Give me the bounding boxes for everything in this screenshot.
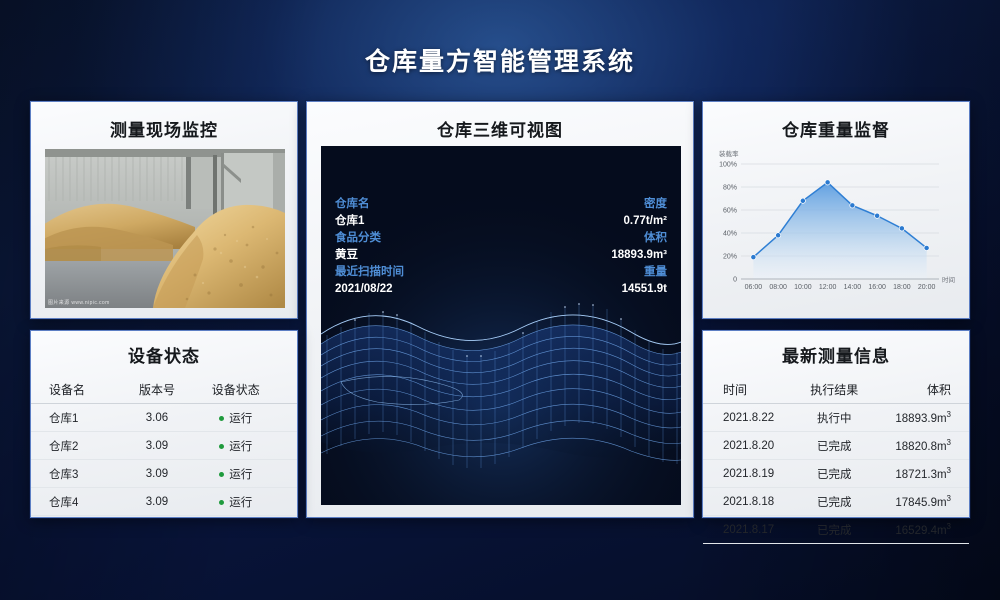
label-warehouse-name: 仓库名	[335, 196, 370, 213]
y-tick-label: 80%	[723, 185, 737, 192]
data-point[interactable]	[850, 203, 855, 208]
x-tick-labels: 06:0008:0010:0012:0014:0016:0018:0020:00	[745, 284, 936, 291]
device-status: 运行	[188, 488, 297, 516]
device-version: 3.09	[125, 432, 188, 460]
measure-time: 2021.8.19	[703, 460, 801, 488]
table-row[interactable]: 2021.8.19已完成18721.3m3	[703, 460, 969, 488]
measure-result: 执行中	[801, 404, 867, 432]
y-tick-label: 20%	[723, 254, 737, 261]
data-point[interactable]	[924, 245, 929, 250]
device-col-version: 版本号	[125, 375, 188, 404]
device-status: 运行	[188, 404, 297, 432]
panel-title-device-status: 设备状态	[31, 342, 297, 367]
panel-title-3d-visual: 仓库三维可视图	[307, 116, 693, 141]
status-label: 运行	[229, 413, 252, 425]
info-row-value-1: 仓库1 0.77t/m²	[335, 213, 667, 230]
device-status-table: 设备名 版本号 设备状态 仓库13.06运行仓库23.09运行仓库33.09运行…	[31, 375, 297, 516]
measure-result: 已完成	[801, 460, 867, 488]
table-row[interactable]: 仓库43.09运行	[31, 488, 297, 516]
label-weight: 重量	[644, 264, 667, 281]
x-tick-label: 08:00	[769, 284, 787, 291]
device-version: 3.09	[125, 488, 188, 516]
info-row-label-1: 仓库名 密度	[335, 196, 667, 213]
unit-exponent: 3	[947, 494, 951, 503]
label-volume: 体积	[644, 230, 667, 247]
panel-latest-measurement: 最新测量信息 时间 执行结果 体积 2021.8.22执行中18893.9m32…	[702, 330, 970, 518]
unit-exponent: 3	[947, 410, 951, 419]
status-dot-icon	[219, 444, 224, 449]
status-dot-icon	[219, 472, 224, 477]
panel-weight-chart: 仓库重量监督 装载率 020%40%60%80%100% 06:0008:001	[702, 101, 970, 319]
measure-col-volume: 体积	[867, 375, 969, 404]
x-tick-label: 12:00	[819, 284, 837, 291]
measure-time: 2021.8.18	[703, 488, 801, 516]
measure-result: 已完成	[801, 516, 867, 544]
measure-table-header-row: 时间 执行结果 体积	[703, 375, 969, 404]
device-col-name: 设备名	[31, 375, 125, 404]
table-row[interactable]: 仓库23.09运行	[31, 432, 297, 460]
data-point[interactable]	[776, 233, 781, 238]
table-row[interactable]: 2021.8.22执行中18893.9m3	[703, 404, 969, 432]
measure-result: 已完成	[801, 488, 867, 516]
value-density: 0.77t/m²	[624, 213, 667, 230]
warehouse-grain-photo	[45, 149, 285, 308]
camera-feed[interactable]: 图片来源 www.nipic.com	[45, 149, 285, 308]
panel-title-weight-chart: 仓库重量监督	[703, 116, 969, 141]
device-name: 仓库1	[31, 404, 125, 432]
x-tick-label: 20:00	[918, 284, 936, 291]
panel-title-site-monitoring: 测量现场监控	[31, 116, 297, 141]
measure-time: 2021.8.22	[703, 404, 801, 432]
warehouse-info-overlay: 仓库名 密度 仓库1 0.77t/m² 食品分类 体积 黄豆 18893.9m³…	[335, 196, 667, 298]
device-version: 3.09	[125, 460, 188, 488]
status-label: 运行	[229, 441, 252, 453]
measurement-table-body: 2021.8.22执行中18893.9m32021.8.20已完成18820.8…	[703, 404, 969, 544]
status-dot-icon	[219, 500, 224, 505]
measure-volume: 17845.9m3	[867, 488, 969, 516]
unit-exponent: 3	[947, 522, 951, 531]
data-point[interactable]	[825, 180, 830, 185]
page-title: 仓库量方智能管理系统	[0, 42, 1000, 78]
unit-exponent: 3	[947, 438, 951, 447]
y-tick-label: 40%	[723, 231, 737, 238]
data-point[interactable]	[899, 226, 904, 231]
x-tick-label: 06:00	[745, 284, 763, 291]
info-row-value-2: 黄豆 18893.9m³	[335, 247, 667, 264]
table-row[interactable]: 仓库33.09运行	[31, 460, 297, 488]
info-row-value-3: 2021/08/22 14551.9t	[335, 281, 667, 298]
value-weight: 14551.9t	[622, 281, 667, 298]
y-axis-title: 装载率	[719, 149, 739, 158]
device-table-body: 仓库13.06运行仓库23.09运行仓库33.09运行仓库43.09运行	[31, 404, 297, 516]
measure-volume: 18820.8m3	[867, 432, 969, 460]
device-name: 仓库3	[31, 460, 125, 488]
measure-time: 2021.8.20	[703, 432, 801, 460]
panel-site-monitoring: 测量现场监控	[30, 101, 298, 319]
data-point[interactable]	[800, 198, 805, 203]
label-density: 密度	[644, 196, 667, 213]
x-tick-label: 16:00	[868, 284, 886, 291]
measurement-table: 时间 执行结果 体积 2021.8.22执行中18893.9m32021.8.2…	[703, 375, 969, 544]
label-food-category: 食品分类	[335, 230, 381, 247]
measure-col-result: 执行结果	[801, 375, 867, 404]
unit-exponent: 3	[947, 466, 951, 475]
panel-3d-visual: 仓库三维可视图	[306, 101, 694, 518]
device-version: 3.06	[125, 404, 188, 432]
device-status: 运行	[188, 460, 297, 488]
x-tick-label: 10:00	[794, 284, 812, 291]
table-row[interactable]: 2021.8.17已完成16529.4m3	[703, 516, 969, 544]
load-rate-chart[interactable]: 装载率 020%40%60%80%100% 06:0008:0010:0012:…	[711, 142, 963, 312]
x-tick-label: 14:00	[844, 284, 862, 291]
info-row-label-2: 食品分类 体积	[335, 230, 667, 247]
device-table-header-row: 设备名 版本号 设备状态	[31, 375, 297, 404]
y-tick-label: 0	[733, 277, 737, 284]
3d-mesh-viewport[interactable]: 仓库名 密度 仓库1 0.77t/m² 食品分类 体积 黄豆 18893.9m³…	[321, 146, 681, 505]
table-row[interactable]: 仓库13.06运行	[31, 404, 297, 432]
measure-volume: 16529.4m3	[867, 516, 969, 544]
label-last-scan-time: 最近扫描时间	[335, 264, 404, 281]
device-status: 运行	[188, 432, 297, 460]
y-tick-labels: 020%40%60%80%100%	[719, 162, 737, 284]
load-rate-area-chart: 装载率 020%40%60%80%100% 06:0008:0010:0012:…	[711, 142, 963, 312]
measure-volume: 18893.9m3	[867, 404, 969, 432]
x-axis-title: 时间	[942, 275, 955, 284]
x-tick-label: 18:00	[893, 284, 911, 291]
panel-title-latest-measurement: 最新测量信息	[703, 342, 969, 367]
value-warehouse-name: 仓库1	[335, 213, 364, 230]
photo-watermark: 图片来源 www.nipic.com	[48, 299, 110, 306]
value-last-scan-time: 2021/08/22	[335, 281, 393, 298]
status-label: 运行	[229, 469, 252, 481]
device-col-status: 设备状态	[188, 375, 297, 404]
data-point[interactable]	[875, 213, 880, 218]
panel-device-status: 设备状态 设备名 版本号 设备状态 仓库13.06运行仓库23.09运行仓库33…	[30, 330, 298, 518]
value-food-category: 黄豆	[335, 247, 358, 264]
y-tick-label: 60%	[723, 208, 737, 215]
status-label: 运行	[229, 497, 252, 509]
dashboard-root: 仓库量方智能管理系统 测量现场监控	[0, 0, 1000, 600]
device-name: 仓库2	[31, 432, 125, 460]
value-volume: 18893.9m³	[611, 247, 667, 264]
y-tick-label: 100%	[719, 162, 737, 169]
measure-result: 已完成	[801, 432, 867, 460]
data-point[interactable]	[751, 255, 756, 260]
device-name: 仓库4	[31, 488, 125, 516]
measure-time: 2021.8.17	[703, 516, 801, 544]
status-dot-icon	[219, 416, 224, 421]
table-row[interactable]: 2021.8.20已完成18820.8m3	[703, 432, 969, 460]
measure-col-time: 时间	[703, 375, 801, 404]
measure-volume: 18721.3m3	[867, 460, 969, 488]
table-row[interactable]: 2021.8.18已完成17845.9m3	[703, 488, 969, 516]
info-row-label-3: 最近扫描时间 重量	[335, 264, 667, 281]
